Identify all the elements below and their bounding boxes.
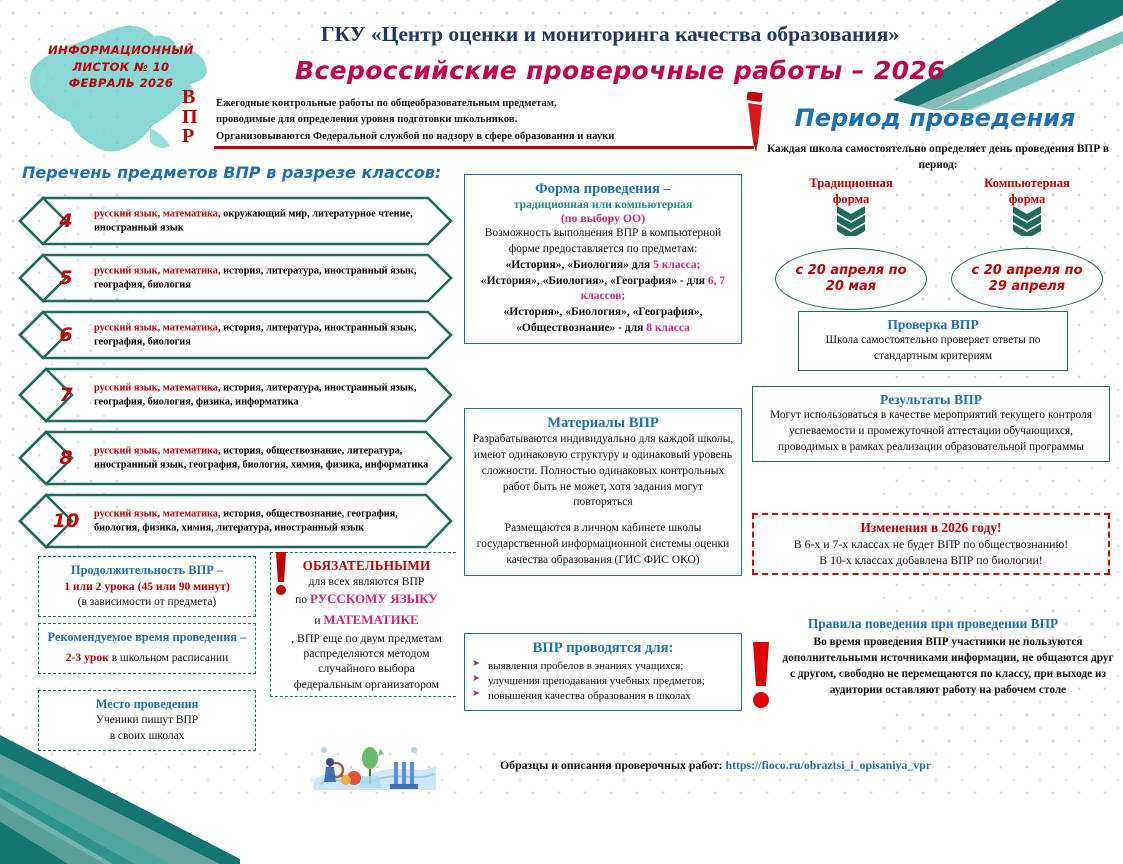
purpose-item: улучшения преподавания учебных предметов… (472, 674, 734, 688)
grade-subjects: русский язык, математика, история, общес… (94, 444, 434, 471)
duration-value: 1 или 2 урока (45 или 90 минут) (47, 579, 247, 595)
materials-para-2: Размещаются в личном кабинете школы госу… (472, 521, 734, 569)
pencil-icon (742, 92, 768, 154)
form-line-0: «История», «Биология» для 5 класса; (472, 258, 734, 274)
infosheet-label: ИНФОРМАЦИОННЫЙ ЛИСТОК № 10 ФЕВРАЛЬ 2026 (26, 42, 216, 92)
changes-line-2: В 10-х классах добавлена ВПР по биологии… (762, 552, 1100, 568)
grade-number: 8 (48, 447, 84, 469)
exclamation-icon (272, 552, 290, 596)
mandatory-subtitle: для всех являются ВПР (283, 574, 450, 589)
vpr-acronym-vertical: В П Р (182, 88, 198, 147)
results-title: Результаты ВПР (761, 392, 1101, 408)
form-line-1: «История», «Биология», «География» - для… (472, 274, 734, 306)
rules-body: Во время проведения ВПР участники не пол… (782, 634, 1114, 698)
chevron-down-icon (833, 204, 869, 236)
check-title: Проверка ВПР (807, 317, 1059, 333)
grade-row: 6 русский язык, математика, история, лит… (18, 310, 454, 360)
grade-row: 8 русский язык, математика, история, общ… (18, 430, 454, 486)
grade-row: 10 русский язык, математика, история, об… (18, 493, 454, 549)
grade-subjects: русский язык, математика, окружающий мир… (94, 207, 434, 234)
grade-row: 7 русский язык, математика, история, лит… (18, 367, 454, 423)
samples-label: Образцы и описания проверочных работ: (500, 758, 723, 772)
mandatory-title: ОБЯЗАТЕЛЬНЫМИ (283, 557, 450, 574)
materials-para-1: Разрабатываются индивидуально для каждой… (472, 432, 734, 511)
period-title: Период проведения (760, 104, 1110, 132)
recommended-time-value: 2-3 урок в школьном расписании (47, 646, 247, 668)
results-body: Могут использоваться в качестве мероприя… (761, 408, 1101, 456)
duration-note: (в зависимости от предмета) (47, 595, 247, 611)
grade-number: 6 (48, 324, 84, 346)
grade-number: 7 (48, 384, 84, 406)
grade-subjects: русский язык, математика, история, литер… (94, 321, 434, 348)
chevron-down-icon (1009, 204, 1045, 236)
purpose-title: ВПР проводятся для: (472, 640, 734, 657)
purpose-item: выявления пробелов в знаниях учащихся; (472, 659, 734, 673)
check-box: Проверка ВПР Школа самостоятельно провер… (798, 311, 1068, 371)
decorative-swoosh-top-right (893, 0, 1123, 110)
location-box: Место проведения Ученики пишут ВПР в сво… (38, 690, 256, 751)
changes-box: Изменения в 2026 году! В 6-х и 7-х класс… (752, 513, 1110, 575)
location-line1: Ученики пишут ВПР (47, 713, 247, 729)
materials-box: Материалы ВПР Разрабатываются индивидуал… (464, 408, 742, 576)
form-teal-line: традиционная или компьютерная (472, 198, 734, 211)
science-illustration (310, 740, 440, 794)
computer-form-dates: с 20 апреля по 29 апреля (951, 248, 1103, 310)
intro-description: Ежегодные контрольные работы по общеобра… (216, 96, 736, 145)
exclamation-icon (748, 642, 774, 708)
location-title: Место проведения (47, 696, 247, 713)
intro-divider (214, 146, 754, 149)
mandatory-subjects-box: ОБЯЗАТЕЛЬНЫМИ для всех являются ВПР по Р… (270, 552, 456, 697)
purpose-list: выявления пробелов в знаниях учащихся; у… (472, 659, 734, 703)
form-line-2: «История», «Биология», «География», «Общ… (472, 305, 734, 337)
page-title: Всероссийские проверочные работы – 2026 (240, 56, 1000, 85)
form-box: Форма проведения – традиционная или комп… (464, 174, 742, 344)
grade-subjects: русский язык, математика, история, общес… (94, 507, 434, 534)
grade-row: 5 русский язык, математика, история, лит… (18, 253, 454, 303)
changes-line-1: В 6-х и 7-х классах не будет ВПР по обще… (762, 536, 1100, 552)
materials-title: Материалы ВПР (472, 415, 734, 432)
organization-title: ГКУ «Центр оценки и мониторинга качества… (215, 22, 1005, 47)
grade-number: 10 (48, 510, 84, 532)
mandatory-body: , ВПР еще по двум предметам распределяют… (283, 631, 450, 692)
recommended-time-box: Рекомендуемое время проведения – 2-3 уро… (38, 623, 256, 674)
grade-row: 4 русский язык, математика, окружающий м… (18, 196, 454, 246)
samples-footer: Образцы и описания проверочных работ: ht… (500, 758, 1110, 773)
recommended-time-title: Рекомендуемое время проведения – (47, 629, 247, 646)
traditional-form-label: Традиционная форма (776, 176, 926, 207)
rules-title: Правила поведения при проведении ВПР (752, 616, 1114, 632)
purpose-box: ВПР проводятся для: выявления пробелов в… (464, 633, 742, 711)
samples-url[interactable]: https://fioco.ru/obraztsi_i_opisaniya_vp… (726, 758, 931, 772)
duration-title: Продолжительность ВПР – (47, 562, 247, 579)
grade-number: 5 (48, 267, 84, 289)
subjects-heading: Перечень предметов ВПР в разрезе классов… (22, 163, 452, 182)
form-title: Форма проведения – (472, 181, 734, 198)
mandatory-subjects: по РУССКОМУ ЯЗЫКУ (283, 589, 450, 610)
results-box: Результаты ВПР Могут использоваться в ка… (752, 386, 1110, 462)
form-pink-line: (по выбору ОО) (472, 211, 734, 226)
grade-number: 4 (48, 210, 84, 232)
changes-title: Изменения в 2026 году! (762, 520, 1100, 536)
mandatory-subjects-2: и МАТЕМАТИКЕ (283, 610, 450, 631)
grade-subjects: русский язык, математика, история, литер… (94, 381, 434, 408)
form-body: Возможность выполнения ВПР в компьютерно… (472, 226, 734, 258)
location-line2: в своих школах (47, 729, 247, 745)
duration-box: Продолжительность ВПР – 1 или 2 урока (4… (38, 556, 256, 617)
period-subtitle: Каждая школа самостоятельно определяет д… (762, 142, 1114, 173)
check-body: Школа самостоятельно проверяет ответы по… (807, 333, 1059, 365)
grade-subjects: русский язык, математика, история, литер… (94, 264, 434, 291)
traditional-form-dates: с 20 апреля по 20 мая (775, 248, 927, 310)
computer-form-label: Компьютерная форма (952, 176, 1102, 207)
purpose-item: повышения качества образования в школах (472, 689, 734, 703)
